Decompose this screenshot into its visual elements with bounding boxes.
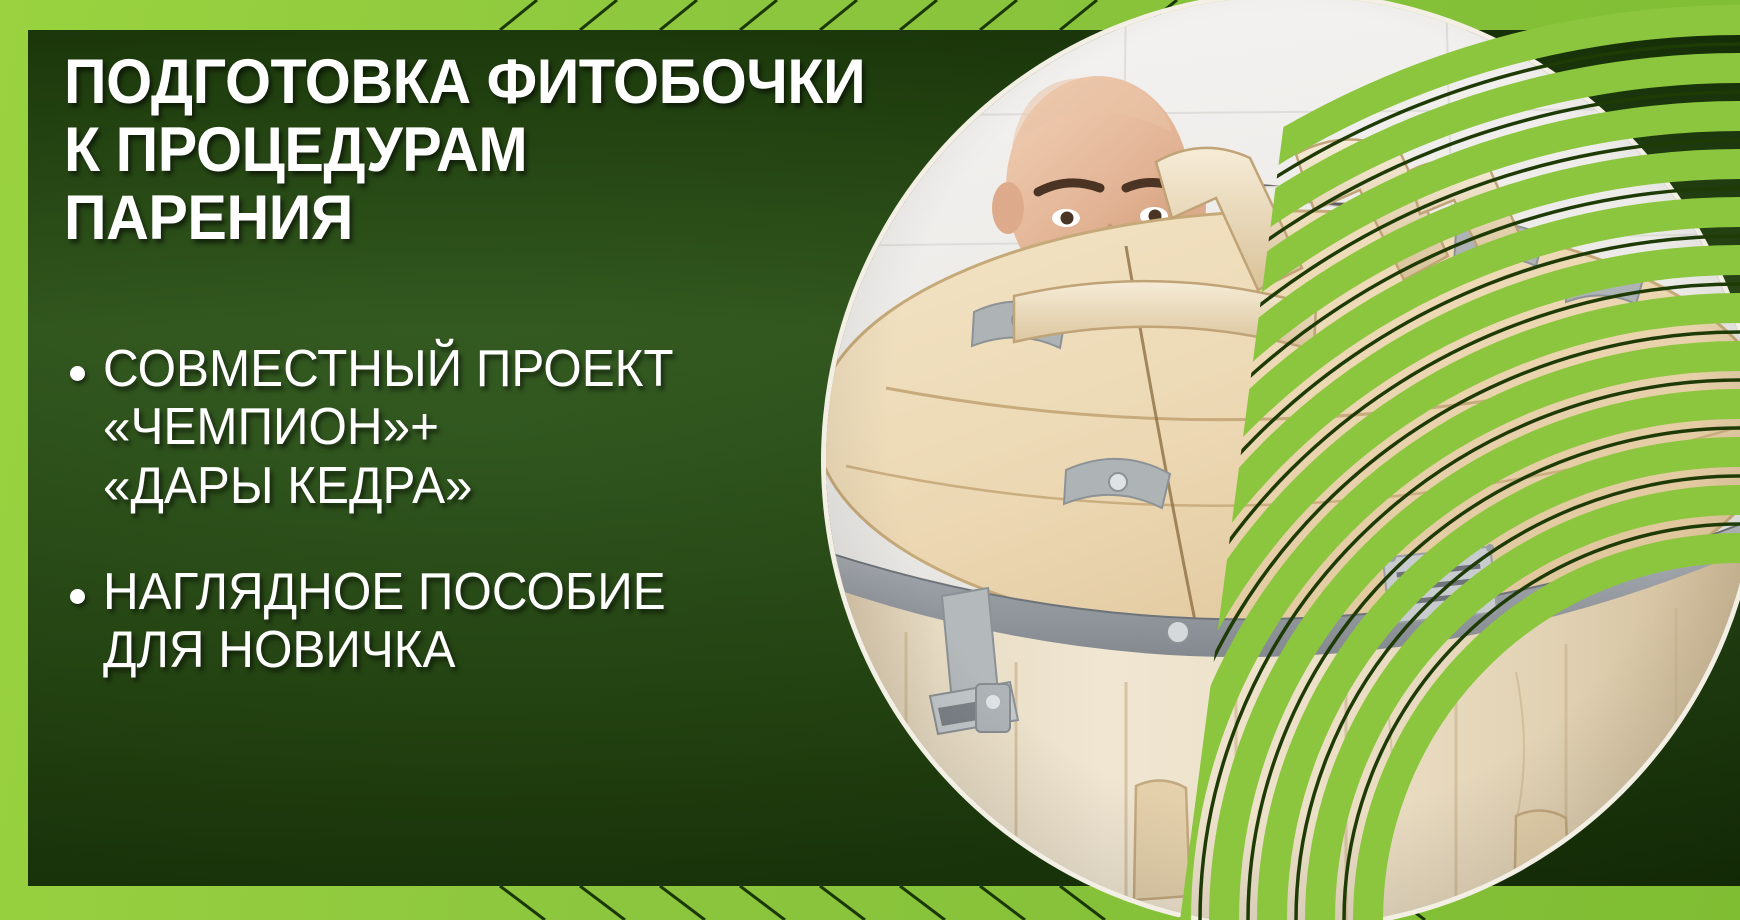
bullet-dot-icon — [70, 366, 85, 381]
feature-bullet-list: СОВМЕСТНЫЙ ПРОЕКТ «ЧЕМПИОН»+ «ДАРЫ КЕДРА… — [64, 340, 944, 679]
page-title: ПОДГОТОВКА ФИТОБОЧКИ К ПРОЦЕДУРАМ ПАРЕНИ… — [64, 48, 891, 252]
slide-canvas: ПОДГОТОВКА ФИТОБОЧКИ К ПРОЦЕДУРАМ ПАРЕНИ… — [0, 0, 1740, 920]
bullet-text: СОВМЕСТНЫЙ ПРОЕКТ «ЧЕМПИОН»+ «ДАРЫ КЕДРА… — [103, 340, 674, 515]
bullet-dot-icon — [70, 589, 85, 604]
list-item: СОВМЕСТНЫЙ ПРОЕКТ «ЧЕМПИОН»+ «ДАРЫ КЕДРА… — [64, 340, 944, 515]
bullet-text: НАГЛЯДНОЕ ПОСОБИЕ ДЛЯ НОВИЧКА — [103, 563, 666, 679]
list-item: НАГЛЯДНОЕ ПОСОБИЕ ДЛЯ НОВИЧКА — [64, 563, 944, 679]
phytobarrel-photo — [826, 0, 1740, 920]
hero-photo-circle — [826, 0, 1740, 920]
text-content: ПОДГОТОВКА ФИТОБОЧКИ К ПРОЦЕДУРАМ ПАРЕНИ… — [64, 48, 944, 727]
